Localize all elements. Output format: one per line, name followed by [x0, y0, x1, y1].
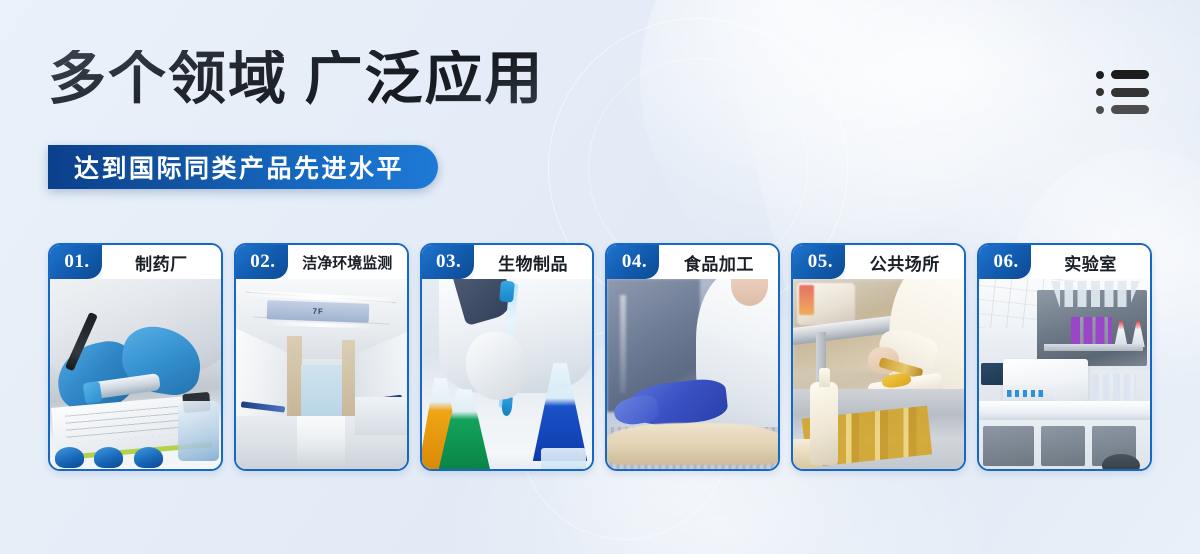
card-title: 公共场所	[845, 245, 964, 279]
application-card[interactable]: 02. 洁净环境监测 7F	[234, 243, 409, 471]
card-title: 制药厂	[102, 245, 221, 279]
card-number-badge: 02.	[236, 245, 288, 279]
food-processing-photo	[607, 279, 778, 469]
menu-dot-icon	[1096, 88, 1104, 96]
public-venue-photo	[793, 279, 964, 469]
application-card[interactable]: 01. 制药厂	[48, 243, 223, 471]
application-card[interactable]: 03. 生物制品	[420, 243, 595, 471]
menu-icon-row	[1096, 105, 1152, 114]
pharmaceutical-plant-photo	[50, 279, 221, 469]
card-title: 生物制品	[474, 245, 593, 279]
laboratory-photo	[979, 279, 1150, 469]
menu-dot-icon	[1096, 71, 1104, 79]
card-title: 食品加工	[659, 245, 778, 279]
card-title: 洁净环境监测	[288, 245, 407, 279]
card-number-badge: 05.	[793, 245, 845, 279]
menu-icon-row	[1096, 88, 1152, 97]
application-card-row: 01. 制药厂 02.	[48, 243, 1152, 471]
subtitle-banner: 达到国际同类产品先进水平	[48, 145, 438, 189]
biological-products-photo	[422, 279, 593, 469]
card-number-badge: 03.	[422, 245, 474, 279]
card-header: 03. 生物制品	[422, 245, 593, 279]
application-card[interactable]: 04. 食品加工	[605, 243, 780, 471]
card-header: 04. 食品加工	[607, 245, 778, 279]
cleanroom-corridor-photo: 7F	[236, 279, 407, 469]
menu-bar-icon	[1111, 88, 1149, 97]
list-menu-icon[interactable]	[1096, 70, 1152, 114]
menu-bar-icon	[1111, 70, 1149, 79]
menu-dot-icon	[1096, 106, 1104, 114]
card-header: 05. 公共场所	[793, 245, 964, 279]
card-number-badge: 04.	[607, 245, 659, 279]
subtitle-text: 达到国际同类产品先进水平	[74, 149, 404, 185]
card-title: 实验室	[1031, 245, 1150, 279]
floor-sign-label: 7F	[266, 300, 369, 323]
application-card[interactable]: 05. 公共场所	[791, 243, 966, 471]
menu-icon-row	[1096, 70, 1152, 79]
card-number-badge: 01.	[50, 245, 102, 279]
card-header: 01. 制药厂	[50, 245, 221, 279]
card-number-badge: 06.	[979, 245, 1031, 279]
menu-bar-icon	[1111, 105, 1149, 114]
page-root: 多个领域 广泛应用 达到国际同类产品先进水平 01. 制药厂	[0, 0, 1200, 554]
page-title: 多个领域 广泛应用	[48, 50, 545, 108]
card-header: 02. 洁净环境监测	[236, 245, 407, 279]
application-card[interactable]: 06. 实验室	[977, 243, 1152, 471]
card-header: 06. 实验室	[979, 245, 1150, 279]
